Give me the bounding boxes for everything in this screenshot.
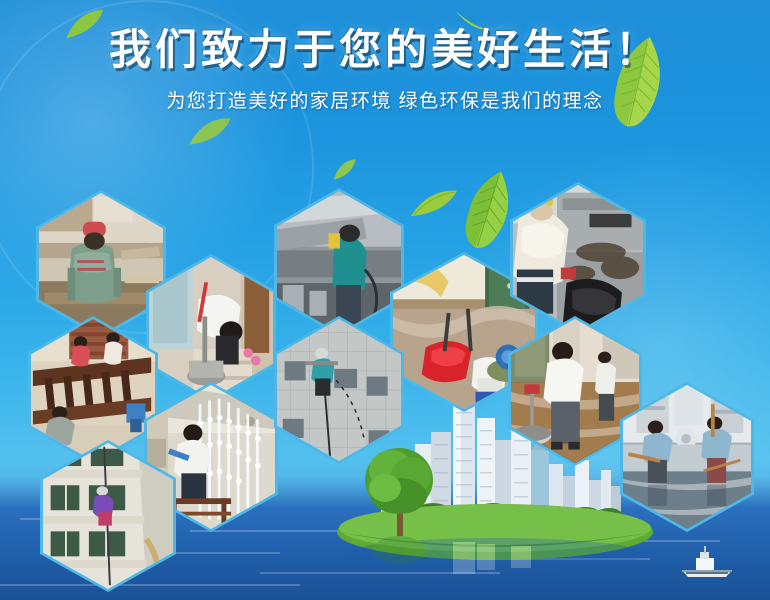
leaf-mid-a-icon [406,188,461,221]
banner-stage: 我们致力于您的美好生活！ 为您打造美好的家居环境 绿色环保是我们的理念 [0,0,770,600]
page-subtitle: 为您打造美好的家居环境 绿色环保是我们的理念 [0,86,770,113]
leaf-upper-mid-icon [328,157,362,183]
hex-photo [31,319,155,461]
boat-icon [678,546,736,580]
hex-photo [277,191,401,333]
hex-duct-cleaning[interactable] [274,188,404,336]
leaf-mid-left-icon [184,115,236,148]
banner-text-block: 我们致力于您的美好生活！ 为您打造美好的家居环境 绿色环保是我们的理念 [0,28,770,113]
page-title: 我们致力于您的美好生活！ [0,28,770,72]
hex-woodwork-polish[interactable] [28,316,158,464]
hex-photo [149,257,273,399]
hex-photo [39,193,163,335]
